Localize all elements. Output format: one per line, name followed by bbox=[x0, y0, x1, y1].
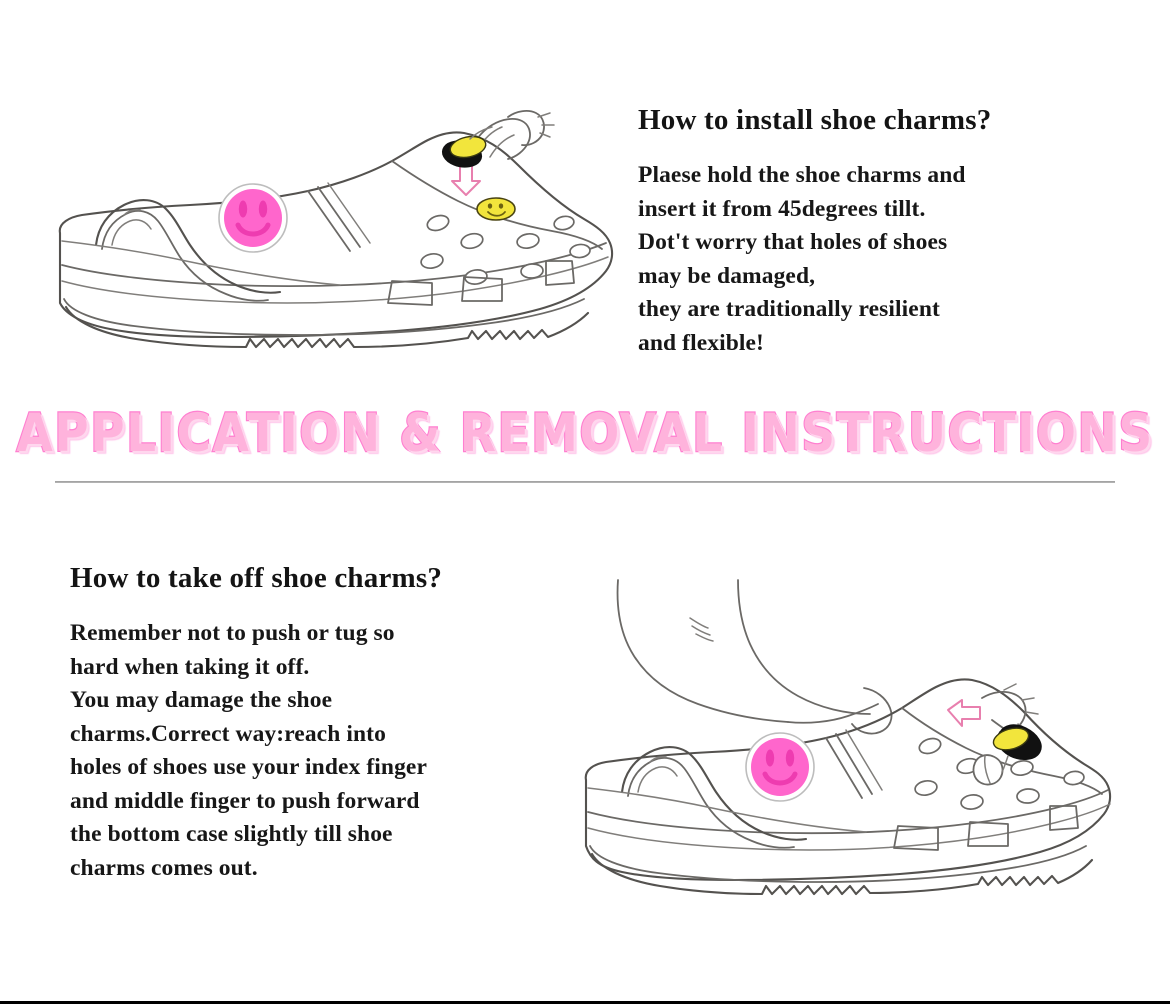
install-line-4: may be damaged, bbox=[638, 260, 1118, 294]
pink-smiley-charm bbox=[746, 733, 814, 801]
install-line-3: Dot't worry that holes of shoes bbox=[638, 226, 1118, 260]
install-line-5: they are traditionally resilient bbox=[638, 293, 1118, 327]
pink-smiley-charm bbox=[219, 184, 287, 252]
install-line-1: Plaese hold the shoe charms and bbox=[638, 159, 1118, 193]
install-line-6: and flexible! bbox=[638, 327, 1118, 361]
removal-heading: How to take off shoe charms? bbox=[70, 562, 570, 595]
install-line-2: insert it from 45degrees tillt. bbox=[638, 193, 1118, 227]
banner-title: APPLICATION & REMOVAL INSTRUCTIONS bbox=[16, 405, 1153, 463]
instruction-sheet: How to install shoe charms? Plaese hold … bbox=[0, 0, 1170, 1004]
removal-illustration bbox=[530, 580, 1120, 910]
empty-charm-hole bbox=[973, 755, 1002, 784]
install-illustration bbox=[40, 95, 630, 365]
banner: APPLICATION & REMOVAL INSTRUCTIONS bbox=[0, 403, 1170, 465]
inserted-yellow-charm bbox=[477, 198, 515, 220]
removal-line-1: Remember not to push or tug so bbox=[70, 617, 570, 651]
removal-line-5: holes of shoes use your index finger bbox=[70, 751, 570, 785]
removal-line-7: the bottom case slightly till shoe bbox=[70, 818, 570, 852]
hand-holding-charm bbox=[442, 111, 554, 167]
removal-line-6: and middle finger to push forward bbox=[70, 785, 570, 819]
install-heading: How to install shoe charms? bbox=[638, 104, 1118, 137]
removal-line-4: charms.Correct way:reach into bbox=[70, 718, 570, 752]
remove-arrow-icon bbox=[948, 700, 980, 726]
removal-section: How to take off shoe charms? Remember no… bbox=[0, 500, 1170, 1004]
install-section: How to install shoe charms? Plaese hold … bbox=[0, 0, 1170, 400]
insert-arrow-icon bbox=[452, 165, 480, 195]
removal-text-block: How to take off shoe charms? Remember no… bbox=[70, 562, 570, 885]
removal-line-2: hard when taking it off. bbox=[70, 651, 570, 685]
removal-paragraph: Remember not to push or tug so hard when… bbox=[70, 617, 570, 885]
removal-line-3: You may damage the shoe bbox=[70, 684, 570, 718]
install-paragraph: Plaese hold the shoe charms and insert i… bbox=[638, 159, 1118, 360]
install-text-block: How to install shoe charms? Plaese hold … bbox=[638, 104, 1118, 360]
banner-divider bbox=[55, 481, 1115, 483]
removal-line-8: charms comes out. bbox=[70, 852, 570, 886]
